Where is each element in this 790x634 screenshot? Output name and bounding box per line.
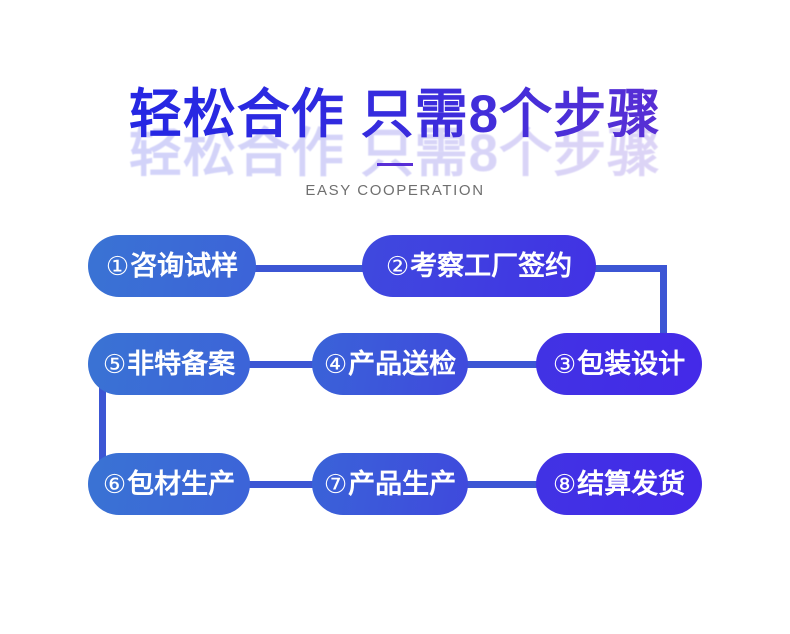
step-pill-5[interactable]: ⑤ 非特备案 — [88, 333, 250, 395]
step-label-1: 咨询试样 — [130, 253, 238, 280]
step-pill-8[interactable]: ⑧ 结算发货 — [536, 453, 702, 515]
step-label-6: 包材生产 — [127, 471, 235, 498]
step-number-5: ⑤ — [103, 351, 126, 377]
step-pill-6[interactable]: ⑥ 包材生产 — [88, 453, 250, 515]
step-number-2: ② — [386, 253, 409, 279]
step-number-3: ③ — [553, 351, 576, 377]
step-number-7: ⑦ — [324, 471, 347, 497]
step-pill-1[interactable]: ① 咨询试样 — [88, 235, 256, 297]
step-label-5: 非特备案 — [127, 351, 235, 378]
step-label-8: 结算发货 — [577, 471, 685, 498]
step-pill-2[interactable]: ② 考察工厂签约 — [362, 235, 596, 297]
step-number-6: ⑥ — [103, 471, 126, 497]
step-label-2: 考察工厂签约 — [410, 253, 572, 280]
step-pill-3[interactable]: ③ 包装设计 — [536, 333, 702, 395]
step-number-4: ④ — [324, 351, 347, 377]
connector-step2-right-elbow — [588, 265, 667, 272]
step-pill-7[interactable]: ⑦ 产品生产 — [312, 453, 468, 515]
step-pill-4[interactable]: ④ 产品送检 — [312, 333, 468, 395]
connector-step7-to-step8 — [460, 481, 548, 488]
step-label-7: 产品生产 — [348, 471, 456, 498]
infographic-canvas: 轻松合作 只需8个步骤 轻松合作 只需8个步骤 EASY COOPERATION… — [0, 0, 790, 634]
step-label-3: 包装设计 — [577, 351, 685, 378]
page-title: 轻松合作 只需8个步骤 — [0, 72, 790, 148]
step-label-4: 产品送检 — [348, 351, 456, 378]
title-wrap: 轻松合作 只需8个步骤 轻松合作 只需8个步骤 — [0, 72, 790, 142]
step-number-8: ⑧ — [553, 471, 576, 497]
connector-step1-to-step2 — [248, 265, 370, 272]
step-number-1: ① — [106, 253, 129, 279]
